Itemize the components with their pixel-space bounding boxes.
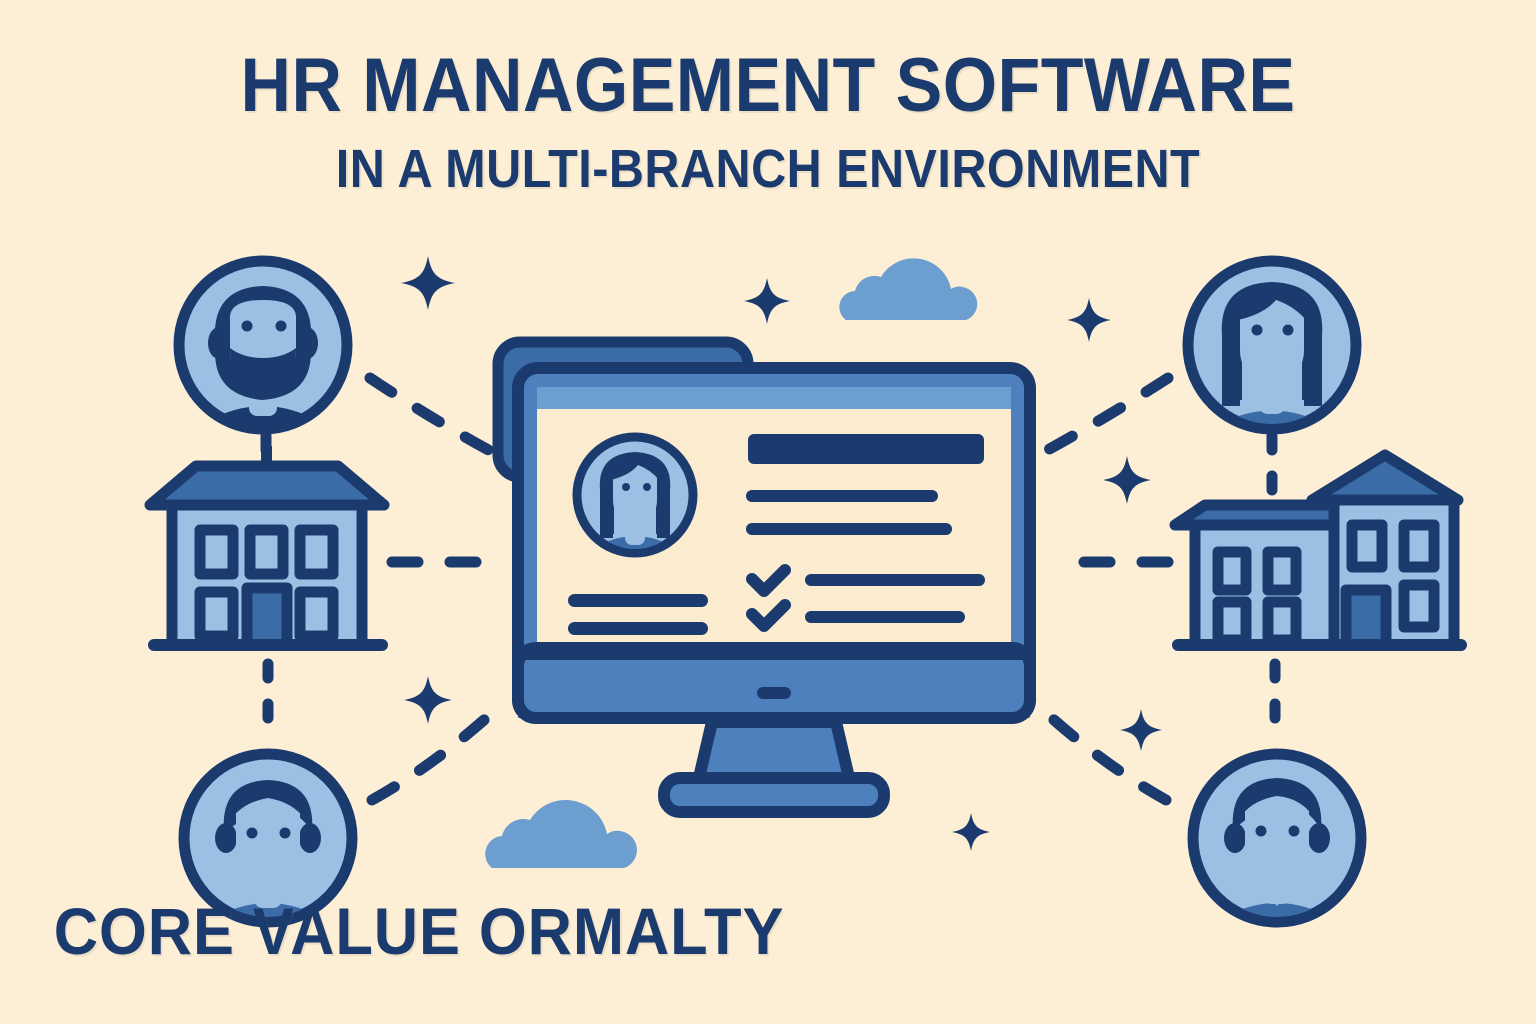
record-check-line (805, 574, 985, 586)
window (300, 530, 333, 574)
monitor-indicator (757, 687, 791, 699)
window (1404, 585, 1434, 627)
window (200, 592, 233, 636)
illustration-artboard (0, 0, 1536, 1024)
window (1268, 602, 1296, 640)
record-name-line (568, 594, 708, 607)
window (1404, 525, 1434, 567)
infographic-canvas: HR MANAGEMENT SOFTWARE IN A MULTI-BRANCH… (0, 0, 1536, 1024)
avatar-face (236, 796, 300, 878)
avatar-face (1245, 794, 1309, 876)
screen-titlebar (537, 387, 1011, 409)
record-header-bar (748, 434, 984, 464)
window (200, 530, 233, 574)
window (250, 530, 283, 574)
window (1218, 552, 1246, 590)
monitor-chin (518, 655, 1030, 718)
window (300, 592, 333, 636)
ground-line (148, 639, 388, 651)
avatar-neck (625, 517, 645, 545)
window (1268, 552, 1296, 590)
ground-line (1172, 639, 1467, 651)
record-name-line (568, 622, 708, 635)
door (247, 588, 287, 645)
monitor-stand-base (664, 778, 884, 812)
record-detail-line (746, 523, 952, 535)
house-roof (150, 466, 384, 505)
footer-caption: CORE VALUE ORMALTY (54, 898, 1482, 964)
record-check-line (805, 611, 965, 623)
window (1218, 602, 1246, 640)
door (1346, 590, 1386, 645)
window (1352, 525, 1382, 567)
branch-office-house-left[interactable] (148, 446, 388, 651)
record-detail-line (746, 490, 938, 502)
